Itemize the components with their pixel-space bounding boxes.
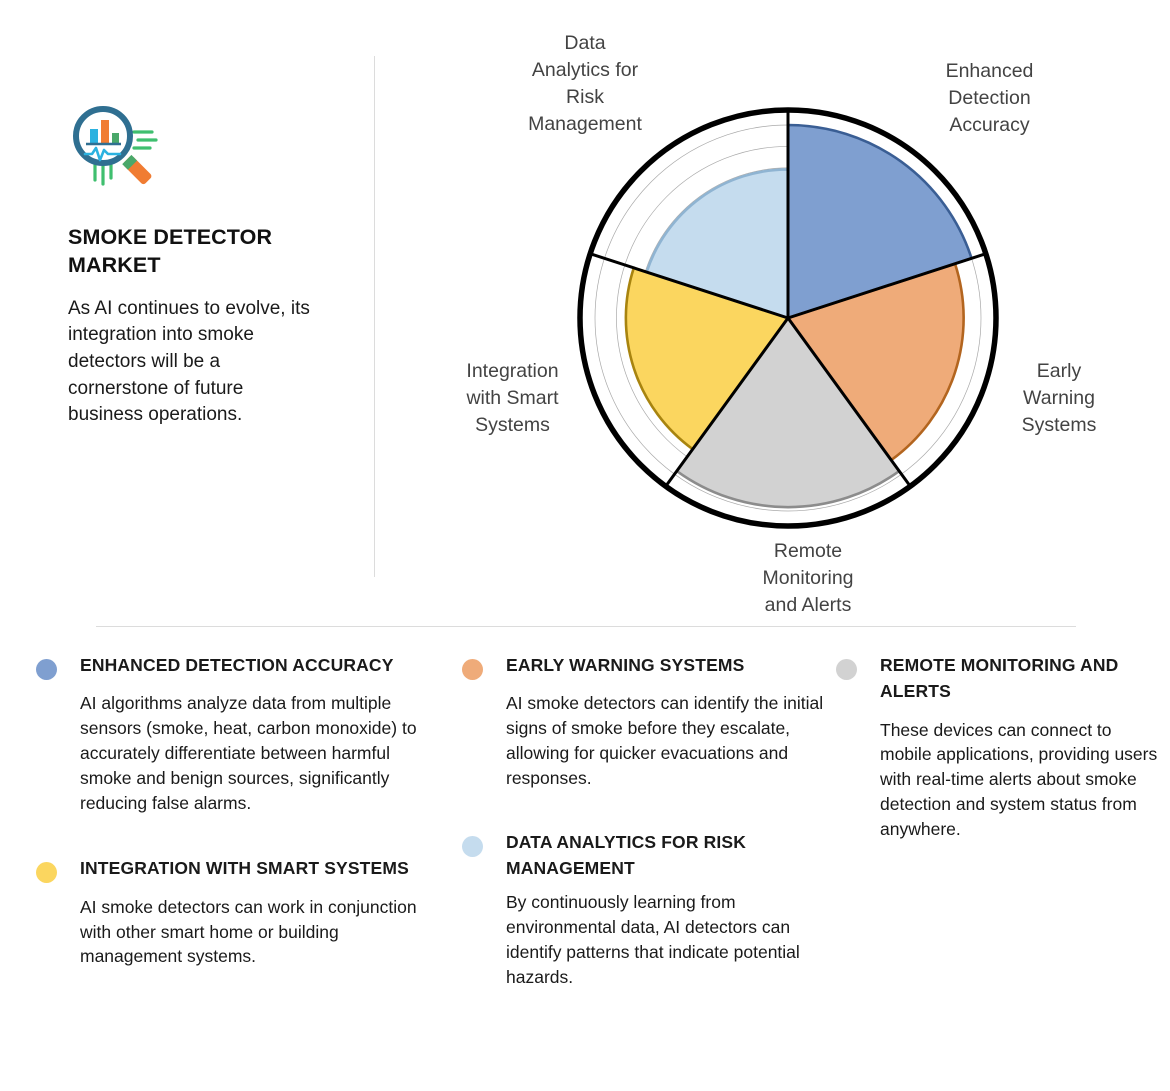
axis-label-integration-smart: Integration with Smart Systems <box>440 358 585 439</box>
infographic-card: SMOKE DETECTOR MARKET As AI continues to… <box>0 0 1170 1091</box>
legend-section: ENHANCED DETECTION ACCURACY AI algorithm… <box>0 652 1170 1091</box>
list-item: REMOTE MONITORING AND ALERTS These devic… <box>832 652 1162 842</box>
axis-label-early-warning: Early Warning Systems <box>1000 358 1118 439</box>
rose-chart: Data Analytics for Risk Management Enhan… <box>400 0 1170 624</box>
legend-column-3: REMOTE MONITORING AND ALERTS These devic… <box>832 652 1162 842</box>
list-item: EARLY WARNING SYSTEMS AI smoke detectors… <box>458 652 830 791</box>
legend-description: These devices can connect to mobile appl… <box>880 718 1162 842</box>
axis-label-remote-monitoring: Remote Monitoring and Alerts <box>718 538 898 619</box>
axis-label-data-analytics: Data Analytics for Risk Management <box>500 30 670 138</box>
list-item: DATA ANALYTICS FOR RISK MANAGEMENT By co… <box>458 829 830 990</box>
vertical-divider <box>374 56 375 577</box>
legend-description: AI algorithms analyze data from multiple… <box>80 691 432 815</box>
list-item: INTEGRATION WITH SMART SYSTEMS AI smoke … <box>32 855 432 969</box>
page-title: SMOKE DETECTOR MARKET <box>68 224 328 280</box>
intro-paragraph: As AI continues to evolve, its integrati… <box>68 296 318 429</box>
legend-title: EARLY WARNING SYSTEMS <box>506 652 830 678</box>
list-item: ENHANCED DETECTION ACCURACY AI algorithm… <box>32 652 432 815</box>
legend-column-1: ENHANCED DETECTION ACCURACY AI algorithm… <box>32 652 432 969</box>
horizontal-divider <box>96 626 1076 627</box>
top-section: SMOKE DETECTOR MARKET As AI continues to… <box>0 0 1170 624</box>
legend-title: INTEGRATION WITH SMART SYSTEMS <box>80 855 432 881</box>
axis-label-enhanced-detection: Enhanced Detection Accuracy <box>912 58 1067 139</box>
legend-column-2: EARLY WARNING SYSTEMS AI smoke detectors… <box>458 652 830 990</box>
magnifier-analytics-icon <box>68 104 162 190</box>
legend-title: DATA ANALYTICS FOR RISK MANAGEMENT <box>506 829 830 882</box>
legend-dot-integration-smart <box>36 862 57 883</box>
intro-panel: SMOKE DETECTOR MARKET As AI continues to… <box>68 104 358 429</box>
legend-title: ENHANCED DETECTION ACCURACY <box>80 652 432 678</box>
legend-dot-remote-monitoring <box>836 659 857 680</box>
legend-title: REMOTE MONITORING AND ALERTS <box>880 652 1162 705</box>
legend-dot-early-warning <box>462 659 483 680</box>
legend-description: By continuously learning from environmen… <box>506 890 830 989</box>
legend-description: AI smoke detectors can work in conjuncti… <box>80 895 432 970</box>
legend-description: AI smoke detectors can identify the init… <box>506 691 830 790</box>
legend-dot-enhanced-detection <box>36 659 57 680</box>
legend-dot-data-analytics <box>462 836 483 857</box>
